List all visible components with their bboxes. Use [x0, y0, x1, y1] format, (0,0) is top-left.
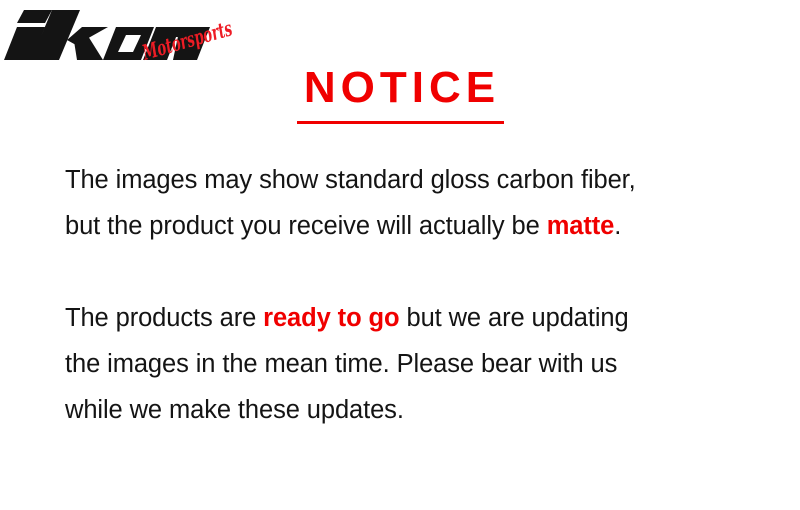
- notice-paragraph-line: The images may show standard gloss carbo…: [65, 157, 765, 203]
- ikon-motorsports-logo: Motorsports: [4, 4, 244, 66]
- logo-artwork: Motorsports: [4, 4, 244, 66]
- notice-paragraph-line: while we make these updates.: [65, 387, 765, 433]
- notice-text-segment: while we make these updates.: [65, 396, 404, 424]
- notice-heading-wrap: NOTICE: [0, 64, 800, 124]
- notice-paragraph-line: The products are ready to go but we are …: [65, 295, 765, 341]
- page-title: NOTICE: [300, 64, 500, 116]
- notice-paragraph-line: but the product you receive will actuall…: [65, 203, 765, 249]
- notice-text-segment: but the product you receive will actuall…: [65, 212, 547, 240]
- notice-banner: Motorsports NOTICE The images may show s…: [0, 0, 800, 510]
- notice-paragraph-line: the images in the mean time. Please bear…: [65, 341, 765, 387]
- notice-text-segment: but we are updating: [400, 304, 629, 332]
- title-underline-rule: [297, 121, 504, 124]
- notice-text-segment: The images may show standard gloss carbo…: [65, 166, 636, 194]
- notice-text-segment: The products are: [65, 304, 263, 332]
- notice-emphasis-ready-to-go: ready to go: [263, 304, 399, 332]
- notice-emphasis-matte: matte: [547, 212, 615, 240]
- notice-body: The images may show standard gloss carbo…: [65, 157, 765, 433]
- notice-text-segment: the images in the mean time. Please bear…: [65, 350, 617, 378]
- notice-text-segment: .: [614, 212, 621, 240]
